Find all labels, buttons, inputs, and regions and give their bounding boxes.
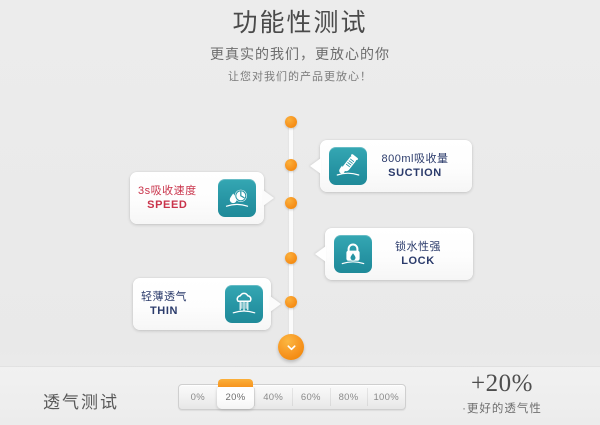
- feature-card-speed[interactable]: 3s吸收速度 SPEED: [130, 172, 264, 224]
- slider-thumb-cap: [218, 379, 254, 387]
- slider-tick-label: 60%: [301, 392, 321, 403]
- padlock-droplet-icon: [334, 235, 372, 273]
- feature-label-en: SUCTION: [388, 167, 442, 180]
- feature-card-speed-text: 3s吸收速度 SPEED: [138, 185, 197, 212]
- feature-label-cn: 轻薄透气: [141, 291, 187, 304]
- feature-label-cn: 3s吸收速度: [138, 185, 197, 198]
- feature-card-thin[interactable]: 轻薄透气 THIN: [133, 278, 271, 330]
- feature-label-en: THIN: [150, 305, 178, 318]
- feature-card-thin-text: 轻薄透气 THIN: [141, 291, 187, 318]
- feature-card-lock-text: 锁水性强 LOCK: [372, 241, 464, 268]
- timeline-dot: [285, 159, 297, 171]
- breathable-cloud-icon: [225, 285, 263, 323]
- feature-card-suction[interactable]: 800ml吸收量 SUCTION: [320, 140, 472, 192]
- card-pointer: [270, 296, 281, 312]
- feature-card-lock[interactable]: 锁水性强 LOCK: [325, 228, 473, 280]
- slider-tick-40[interactable]: 40%: [254, 385, 292, 409]
- section-divider: [0, 366, 600, 367]
- test-tube-droplet-icon: [329, 147, 367, 185]
- timeline-dot: [285, 252, 297, 264]
- feature-label-cn: 800ml吸收量: [382, 153, 449, 166]
- slider-tick-100[interactable]: 100%: [367, 385, 405, 409]
- timeline-end-button[interactable]: [278, 334, 304, 360]
- slider-tick-label: 0%: [191, 392, 205, 403]
- feature-label-en: SPEED: [147, 199, 187, 212]
- slider-tick-label: 20%: [226, 392, 246, 403]
- result-note: ·更好的透气性: [432, 400, 572, 416]
- slider-tick-20[interactable]: 20%: [217, 385, 255, 409]
- timeline: [289, 116, 293, 348]
- card-pointer: [310, 158, 321, 174]
- header-subtitle-primary: 更真实的我们，更放心的你: [0, 44, 600, 64]
- header-subtitle-secondary: 让您对我们的产品更放心！: [0, 68, 600, 84]
- breathability-result: +20% ·更好的透气性: [432, 370, 572, 416]
- feature-label-cn: 锁水性强: [395, 241, 441, 254]
- result-value: +20%: [432, 370, 572, 398]
- timeline-dot: [285, 296, 297, 308]
- timeline-line: [289, 120, 293, 348]
- timeline-dot: [285, 116, 297, 128]
- slider-tick-60[interactable]: 60%: [292, 385, 330, 409]
- droplet-clock-icon: [218, 179, 256, 217]
- slider-tick-label: 100%: [373, 392, 399, 403]
- page-title: 功能性测试: [0, 8, 600, 39]
- timeline-dot: [285, 197, 297, 209]
- feature-label-en: LOCK: [401, 255, 435, 268]
- breathability-slider[interactable]: 0% 20% 40% 60% 80% 100%: [178, 384, 406, 410]
- slider-tick-0[interactable]: 0%: [179, 385, 217, 409]
- card-pointer: [263, 190, 274, 206]
- header: 功能性测试 更真实的我们，更放心的你 让您对我们的产品更放心！: [0, 8, 600, 84]
- chevron-down-icon: [285, 341, 298, 354]
- breathability-test-label: 透气测试: [43, 388, 119, 413]
- slider-tick-label: 40%: [263, 392, 283, 403]
- slider-tick-label: 80%: [339, 392, 359, 403]
- slider-tick-80[interactable]: 80%: [330, 385, 368, 409]
- card-pointer: [315, 246, 326, 262]
- feature-card-suction-text: 800ml吸收量 SUCTION: [367, 153, 463, 180]
- page-root: 功能性测试 更真实的我们，更放心的你 让您对我们的产品更放心！ 3s吸收速度 S…: [0, 0, 600, 425]
